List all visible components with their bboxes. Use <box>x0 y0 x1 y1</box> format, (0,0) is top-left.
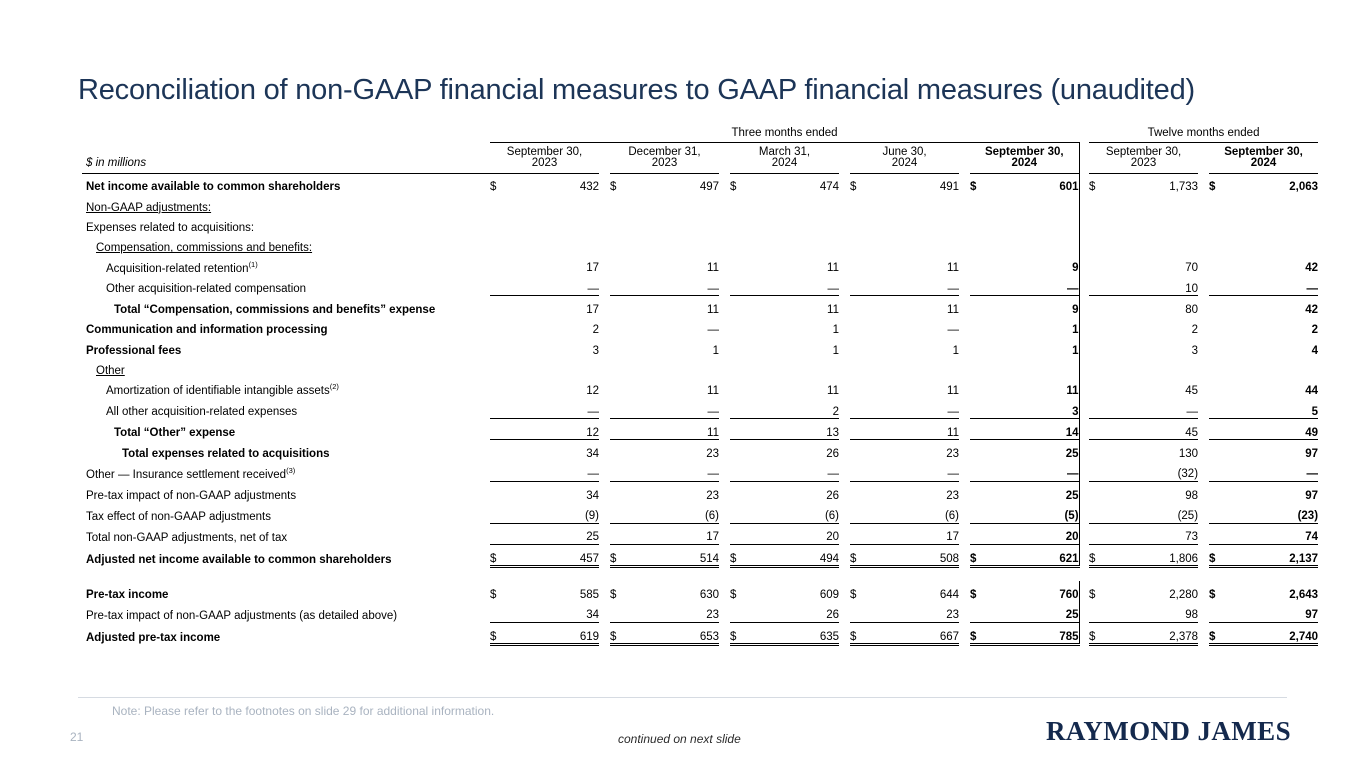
currency-symbol <box>730 502 746 523</box>
table-cell: 23 <box>866 440 959 461</box>
currency-symbol <box>850 317 866 337</box>
currency-symbol <box>610 337 626 357</box>
table-cell: 11 <box>626 419 719 440</box>
currency-symbol <box>490 214 506 234</box>
currency-symbol <box>850 440 866 461</box>
row-label: Pre-tax income <box>82 581 490 601</box>
column-gap <box>599 194 610 214</box>
header-gap-3 <box>959 142 970 173</box>
table-cell <box>1105 214 1198 234</box>
column-gap <box>719 296 730 317</box>
col-header-5-line2: 2023 <box>1131 157 1157 169</box>
table-body: Net income available to common sharehold… <box>82 173 1318 645</box>
column-gap <box>1198 214 1209 234</box>
footer-divider <box>78 697 1287 698</box>
table-cell: 34 <box>506 601 599 622</box>
column-gap <box>719 398 730 419</box>
cell-value: 12 <box>586 427 599 439</box>
currency-symbol <box>1089 419 1105 440</box>
table-cell: 1 <box>986 337 1079 357</box>
currency-symbol <box>850 255 866 275</box>
cell-value: 98 <box>1185 490 1198 502</box>
currency-symbol <box>1089 337 1105 357</box>
currency-symbol <box>730 377 746 397</box>
col-header-5: September 30, 2023 <box>1089 142 1198 173</box>
cell-value: 1 <box>1072 324 1078 336</box>
table-cell <box>626 357 719 377</box>
group-divider-cell <box>1079 234 1089 254</box>
cell-value: 760 <box>1059 589 1078 601</box>
column-gap <box>839 337 850 357</box>
column-gap <box>1198 337 1209 357</box>
table-cell: 26 <box>746 481 839 502</box>
currency-symbol <box>490 502 506 523</box>
table-cell: (32) <box>1105 461 1198 482</box>
table-cell: 9 <box>986 255 1079 275</box>
col-header-1-line2: 2023 <box>652 157 678 169</box>
column-gap <box>719 194 730 214</box>
currency-symbol <box>490 296 506 317</box>
column-gap <box>959 337 970 357</box>
group-divider-cell <box>1079 173 1089 194</box>
table-cell: (23) <box>1225 502 1318 523</box>
cell-value: 20 <box>1066 531 1079 543</box>
row-label: Total “Compensation, commissions and ben… <box>82 296 490 317</box>
currency-symbol <box>850 523 866 544</box>
table-cell: 74 <box>1225 523 1318 544</box>
currency-symbol <box>610 317 626 337</box>
table-row: Tax effect of non-GAAP adjustments(9)(6)… <box>82 502 1318 523</box>
currency-symbol <box>1209 234 1225 254</box>
table-cell: 630 <box>626 581 719 601</box>
cell-value: (6) <box>825 510 839 522</box>
column-gap <box>839 296 850 317</box>
table-cell: 474 <box>746 173 839 194</box>
currency-symbol: $ <box>970 544 986 566</box>
currency-symbol <box>1209 398 1225 419</box>
table-cell: — <box>506 461 599 482</box>
cell-value: — <box>1307 283 1319 295</box>
cell-value: — <box>1067 283 1079 295</box>
footer-note: Note: Please refer to the footnotes on s… <box>112 704 494 718</box>
currency-symbol <box>1209 214 1225 234</box>
cell-value: (32) <box>1178 468 1198 480</box>
cell-value: 97 <box>1305 609 1318 621</box>
table-cell: 2,378 <box>1105 622 1198 644</box>
col-header-6: September 30, 2024 <box>1209 142 1318 173</box>
table-cell <box>986 194 1079 214</box>
table-row: Net income available to common sharehold… <box>82 173 1318 194</box>
cell-value: 1,806 <box>1169 553 1198 565</box>
cell-value: 2 <box>593 324 599 336</box>
currency-symbol <box>610 214 626 234</box>
currency-symbol <box>610 398 626 419</box>
table-cell: 97 <box>1225 601 1318 622</box>
table-cell: — <box>746 275 839 296</box>
column-gap <box>959 581 970 601</box>
group-divider-cell <box>1079 296 1089 317</box>
table-cell: 609 <box>746 581 839 601</box>
cell-value: 23 <box>946 609 959 621</box>
currency-symbol: $ <box>490 544 506 566</box>
row-label-text: Other acquisition-related compensation <box>106 283 306 295</box>
raymond-james-logo: RAYMOND JAMES <box>1046 716 1291 747</box>
currency-symbol <box>730 317 746 337</box>
column-gap <box>599 440 610 461</box>
col-header-4-line2: 2024 <box>1011 157 1037 169</box>
currency-symbol: $ <box>850 544 866 566</box>
table-cell: 3 <box>986 398 1079 419</box>
table-cell: 2 <box>1225 317 1318 337</box>
table-cell: 98 <box>1105 601 1198 622</box>
table-cell: 432 <box>506 173 599 194</box>
row-label: Acquisition-related retention(1) <box>82 255 490 275</box>
table-cell <box>986 357 1079 377</box>
currency-symbol <box>1209 440 1225 461</box>
cell-value: 497 <box>700 181 719 193</box>
table-cell: — <box>866 317 959 337</box>
col-header-1: December 31, 2023 <box>610 142 719 173</box>
cell-value: 10 <box>1185 283 1198 295</box>
currency-symbol <box>850 275 866 296</box>
column-gap <box>599 581 610 601</box>
cell-value: 11 <box>1066 385 1078 397</box>
column-gap <box>719 357 730 377</box>
currency-symbol <box>970 234 986 254</box>
table-cell: 1,806 <box>1105 544 1198 566</box>
column-gap <box>839 194 850 214</box>
currency-symbol <box>1209 296 1225 317</box>
table-cell: 601 <box>986 173 1079 194</box>
currency-symbol <box>1089 502 1105 523</box>
cell-value: 34 <box>586 609 599 621</box>
page-title: Reconciliation of non-GAAP financial mea… <box>78 74 1195 107</box>
currency-symbol <box>850 357 866 377</box>
currency-symbol <box>730 255 746 275</box>
col-header-0-line2: 2023 <box>532 157 558 169</box>
group-header-row: Three months ended Twelve months ended <box>82 128 1318 142</box>
column-gap <box>959 275 970 296</box>
currency-symbol <box>1209 194 1225 214</box>
currency-symbol: $ <box>850 173 866 194</box>
col-header-4-line1: September 30, <box>985 146 1064 158</box>
table-cell <box>986 214 1079 234</box>
cell-value: 2 <box>833 406 839 418</box>
header-gap-1 <box>719 142 730 173</box>
row-label: Compensation, commissions and benefits: <box>82 234 490 254</box>
table-cell: — <box>746 461 839 482</box>
cell-value: 1 <box>833 324 839 336</box>
cell-value: 34 <box>586 490 599 502</box>
currency-symbol <box>970 255 986 275</box>
cell-value: 74 <box>1305 531 1318 543</box>
cell-value: 11 <box>947 427 959 439</box>
table-cell: — <box>1105 398 1198 419</box>
currency-symbol: $ <box>1209 622 1225 644</box>
currency-symbol <box>1089 357 1105 377</box>
currency-symbol <box>490 461 506 482</box>
col-header-4: September 30, 2024 <box>970 142 1079 173</box>
row-label: Communication and information processing <box>82 317 490 337</box>
currency-symbol <box>730 523 746 544</box>
row-label: Total “Other” expense <box>82 419 490 440</box>
table-cell: 2,280 <box>1105 581 1198 601</box>
table-cell: 497 <box>626 173 719 194</box>
currency-symbol <box>1089 440 1105 461</box>
currency-symbol <box>730 398 746 419</box>
cell-value: 9 <box>1072 304 1078 316</box>
cell-value: 130 <box>1179 448 1198 460</box>
table-row: Compensation, commissions and benefits: <box>82 234 1318 254</box>
column-gap <box>1198 419 1209 440</box>
table-cell: (6) <box>626 502 719 523</box>
currency-symbol <box>850 214 866 234</box>
cell-value: 491 <box>940 181 959 193</box>
currency-symbol: $ <box>490 581 506 601</box>
table-cell: 11 <box>626 255 719 275</box>
col-header-0-line1: September 30, <box>507 146 582 158</box>
table-cell: 11 <box>746 377 839 397</box>
table-cell: 44 <box>1225 377 1318 397</box>
table-cell: 26 <box>746 440 839 461</box>
cell-value: 785 <box>1059 631 1078 643</box>
currency-symbol: $ <box>1089 173 1105 194</box>
row-label: Amortization of identifiable intangible … <box>82 377 490 397</box>
cell-value: — <box>588 468 600 480</box>
currency-symbol <box>730 481 746 502</box>
table-cell: 1 <box>986 317 1079 337</box>
table-cell <box>506 357 599 377</box>
cell-value: 494 <box>820 553 839 565</box>
cell-value: 1 <box>833 345 839 357</box>
cell-value: — <box>1187 406 1199 418</box>
table-cell: — <box>626 461 719 482</box>
cell-value: 14 <box>1066 427 1079 439</box>
currency-symbol <box>730 461 746 482</box>
table-cell: 5 <box>1225 398 1318 419</box>
row-label-text: Compensation, commissions and benefits: <box>96 242 312 254</box>
column-gap <box>839 581 850 601</box>
cell-value: 23 <box>946 448 959 460</box>
currency-symbol <box>970 523 986 544</box>
column-gap <box>959 173 970 194</box>
table-cell: 11 <box>746 255 839 275</box>
cell-value: — <box>828 468 840 480</box>
currency-symbol: $ <box>1089 581 1105 601</box>
currency-symbol <box>610 523 626 544</box>
currency-symbol <box>730 194 746 214</box>
group-divider-cell <box>1079 581 1089 601</box>
row-label: Other — Insurance settlement received(3) <box>82 461 490 482</box>
column-gap <box>1198 275 1209 296</box>
currency-symbol <box>1209 377 1225 397</box>
table-row: All other acquisition-related expenses——… <box>82 398 1318 419</box>
row-spacer-cell <box>82 567 1318 582</box>
row-label: Non-GAAP adjustments: <box>82 194 490 214</box>
cell-value: 44 <box>1305 385 1318 397</box>
column-gap <box>599 337 610 357</box>
table-cell <box>506 234 599 254</box>
table-row: Expenses related to acquisitions: <box>82 214 1318 234</box>
column-gap <box>959 317 970 337</box>
table-cell: 34 <box>506 440 599 461</box>
currency-symbol <box>970 481 986 502</box>
column-gap <box>839 255 850 275</box>
row-label-text: Acquisition-related retention <box>106 262 249 274</box>
table-cell: — <box>506 398 599 419</box>
currency-symbol <box>610 502 626 523</box>
column-gap <box>959 234 970 254</box>
row-label: Adjusted pre-tax income <box>82 622 490 644</box>
currency-symbol: $ <box>970 581 986 601</box>
row-label-text: Communication and information processing <box>86 324 328 336</box>
cell-value: 17 <box>706 531 719 543</box>
currency-symbol <box>850 502 866 523</box>
table-cell: 97 <box>1225 440 1318 461</box>
table-cell: 785 <box>986 622 1079 644</box>
cell-value: — <box>588 283 600 295</box>
cell-value: 25 <box>1066 490 1079 502</box>
cell-value: — <box>1067 468 1079 480</box>
cell-value: 635 <box>820 631 839 643</box>
cell-value: 11 <box>707 427 719 439</box>
table-cell <box>506 194 599 214</box>
row-spacer <box>82 567 1318 582</box>
column-gap <box>719 523 730 544</box>
table-cell: — <box>1225 275 1318 296</box>
column-gap <box>839 481 850 502</box>
table-cell: 635 <box>746 622 839 644</box>
table-cell: — <box>866 398 959 419</box>
column-gap <box>599 398 610 419</box>
cell-value: 26 <box>826 448 839 460</box>
currency-symbol <box>1089 461 1105 482</box>
column-gap <box>959 357 970 377</box>
currency-symbol <box>1209 255 1225 275</box>
currency-symbol <box>610 255 626 275</box>
currency-symbol <box>610 481 626 502</box>
table-cell: 2 <box>506 317 599 337</box>
currency-symbol <box>1089 377 1105 397</box>
table-cell: 25 <box>506 523 599 544</box>
cell-value: 2,378 <box>1169 631 1198 643</box>
column-gap <box>1198 544 1209 566</box>
currency-symbol <box>850 337 866 357</box>
table-cell: 12 <box>506 419 599 440</box>
column-gap <box>719 317 730 337</box>
currency-symbol <box>490 419 506 440</box>
currency-symbol: $ <box>850 581 866 601</box>
cell-value: 1 <box>953 345 959 357</box>
table-cell: 1 <box>626 337 719 357</box>
table-cell: 644 <box>866 581 959 601</box>
table-row: Total non-GAAP adjustments, net of tax25… <box>82 523 1318 544</box>
currency-symbol <box>610 194 626 214</box>
column-gap <box>839 275 850 296</box>
table-cell <box>746 214 839 234</box>
row-label: Pre-tax impact of non-GAAP adjustments <box>82 481 490 502</box>
currency-symbol <box>970 440 986 461</box>
column-gap <box>1198 377 1209 397</box>
currency-symbol: $ <box>490 173 506 194</box>
row-label-text: Other <box>96 365 125 377</box>
currency-symbol <box>1209 419 1225 440</box>
cell-value: 17 <box>946 531 959 543</box>
table-cell: 11 <box>866 255 959 275</box>
currency-symbol <box>850 377 866 397</box>
column-gap <box>959 523 970 544</box>
cell-value: 1,733 <box>1169 181 1198 193</box>
row-label-tail: — Insurance settlement received <box>115 469 286 481</box>
table-cell: 2,063 <box>1225 173 1318 194</box>
table-cell: 667 <box>866 622 959 644</box>
table-cell: 20 <box>986 523 1079 544</box>
table-cell: 70 <box>1105 255 1198 275</box>
table-cell: 3 <box>506 337 599 357</box>
table-cell: 42 <box>1225 296 1318 317</box>
table-cell: 17 <box>506 255 599 275</box>
table-cell: 760 <box>986 581 1079 601</box>
table-row: Pre-tax income$585$630$609$644$760$2,280… <box>82 581 1318 601</box>
cell-value: 585 <box>580 589 599 601</box>
currency-symbol <box>850 461 866 482</box>
table-cell: 45 <box>1105 419 1198 440</box>
column-gap <box>1198 194 1209 214</box>
column-gap <box>1198 398 1209 419</box>
column-gap <box>599 214 610 234</box>
row-label: Total non-GAAP adjustments, net of tax <box>82 523 490 544</box>
cell-value: 25 <box>1066 448 1079 460</box>
group-divider-cell <box>1079 275 1089 296</box>
table-cell: 49 <box>1225 419 1318 440</box>
table-cell: 42 <box>1225 255 1318 275</box>
column-gap <box>1198 502 1209 523</box>
column-gap <box>839 357 850 377</box>
table-cell <box>1225 234 1318 254</box>
table-cell: 25 <box>986 601 1079 622</box>
cell-value: — <box>948 468 960 480</box>
col-header-2-line1: March 31, <box>759 146 810 158</box>
currency-symbol <box>610 419 626 440</box>
column-gap <box>719 481 730 502</box>
cell-value: 80 <box>1185 304 1198 316</box>
cell-value: 11 <box>827 262 839 274</box>
column-gap <box>1198 440 1209 461</box>
column-gap <box>599 377 610 397</box>
column-gap <box>719 173 730 194</box>
col-header-3: June 30, 2024 <box>850 142 959 173</box>
currency-symbol: $ <box>490 622 506 644</box>
cell-value: — <box>948 283 960 295</box>
table-cell: 11 <box>866 419 959 440</box>
column-gap <box>839 173 850 194</box>
col-header-6-line2: 2024 <box>1251 157 1277 169</box>
currency-symbol: $ <box>1089 544 1105 566</box>
column-gap <box>959 481 970 502</box>
column-gap <box>719 440 730 461</box>
table-row: Other — Insurance settlement received(3)… <box>82 461 1318 482</box>
currency-symbol <box>970 337 986 357</box>
currency-symbol: $ <box>610 581 626 601</box>
table-cell <box>1225 214 1318 234</box>
currency-symbol: $ <box>730 544 746 566</box>
currency-symbol <box>610 234 626 254</box>
table-cell: (9) <box>506 502 599 523</box>
row-label: Expenses related to acquisitions: <box>82 214 490 234</box>
table-cell: 34 <box>506 481 599 502</box>
column-gap <box>599 481 610 502</box>
column-gap <box>959 440 970 461</box>
